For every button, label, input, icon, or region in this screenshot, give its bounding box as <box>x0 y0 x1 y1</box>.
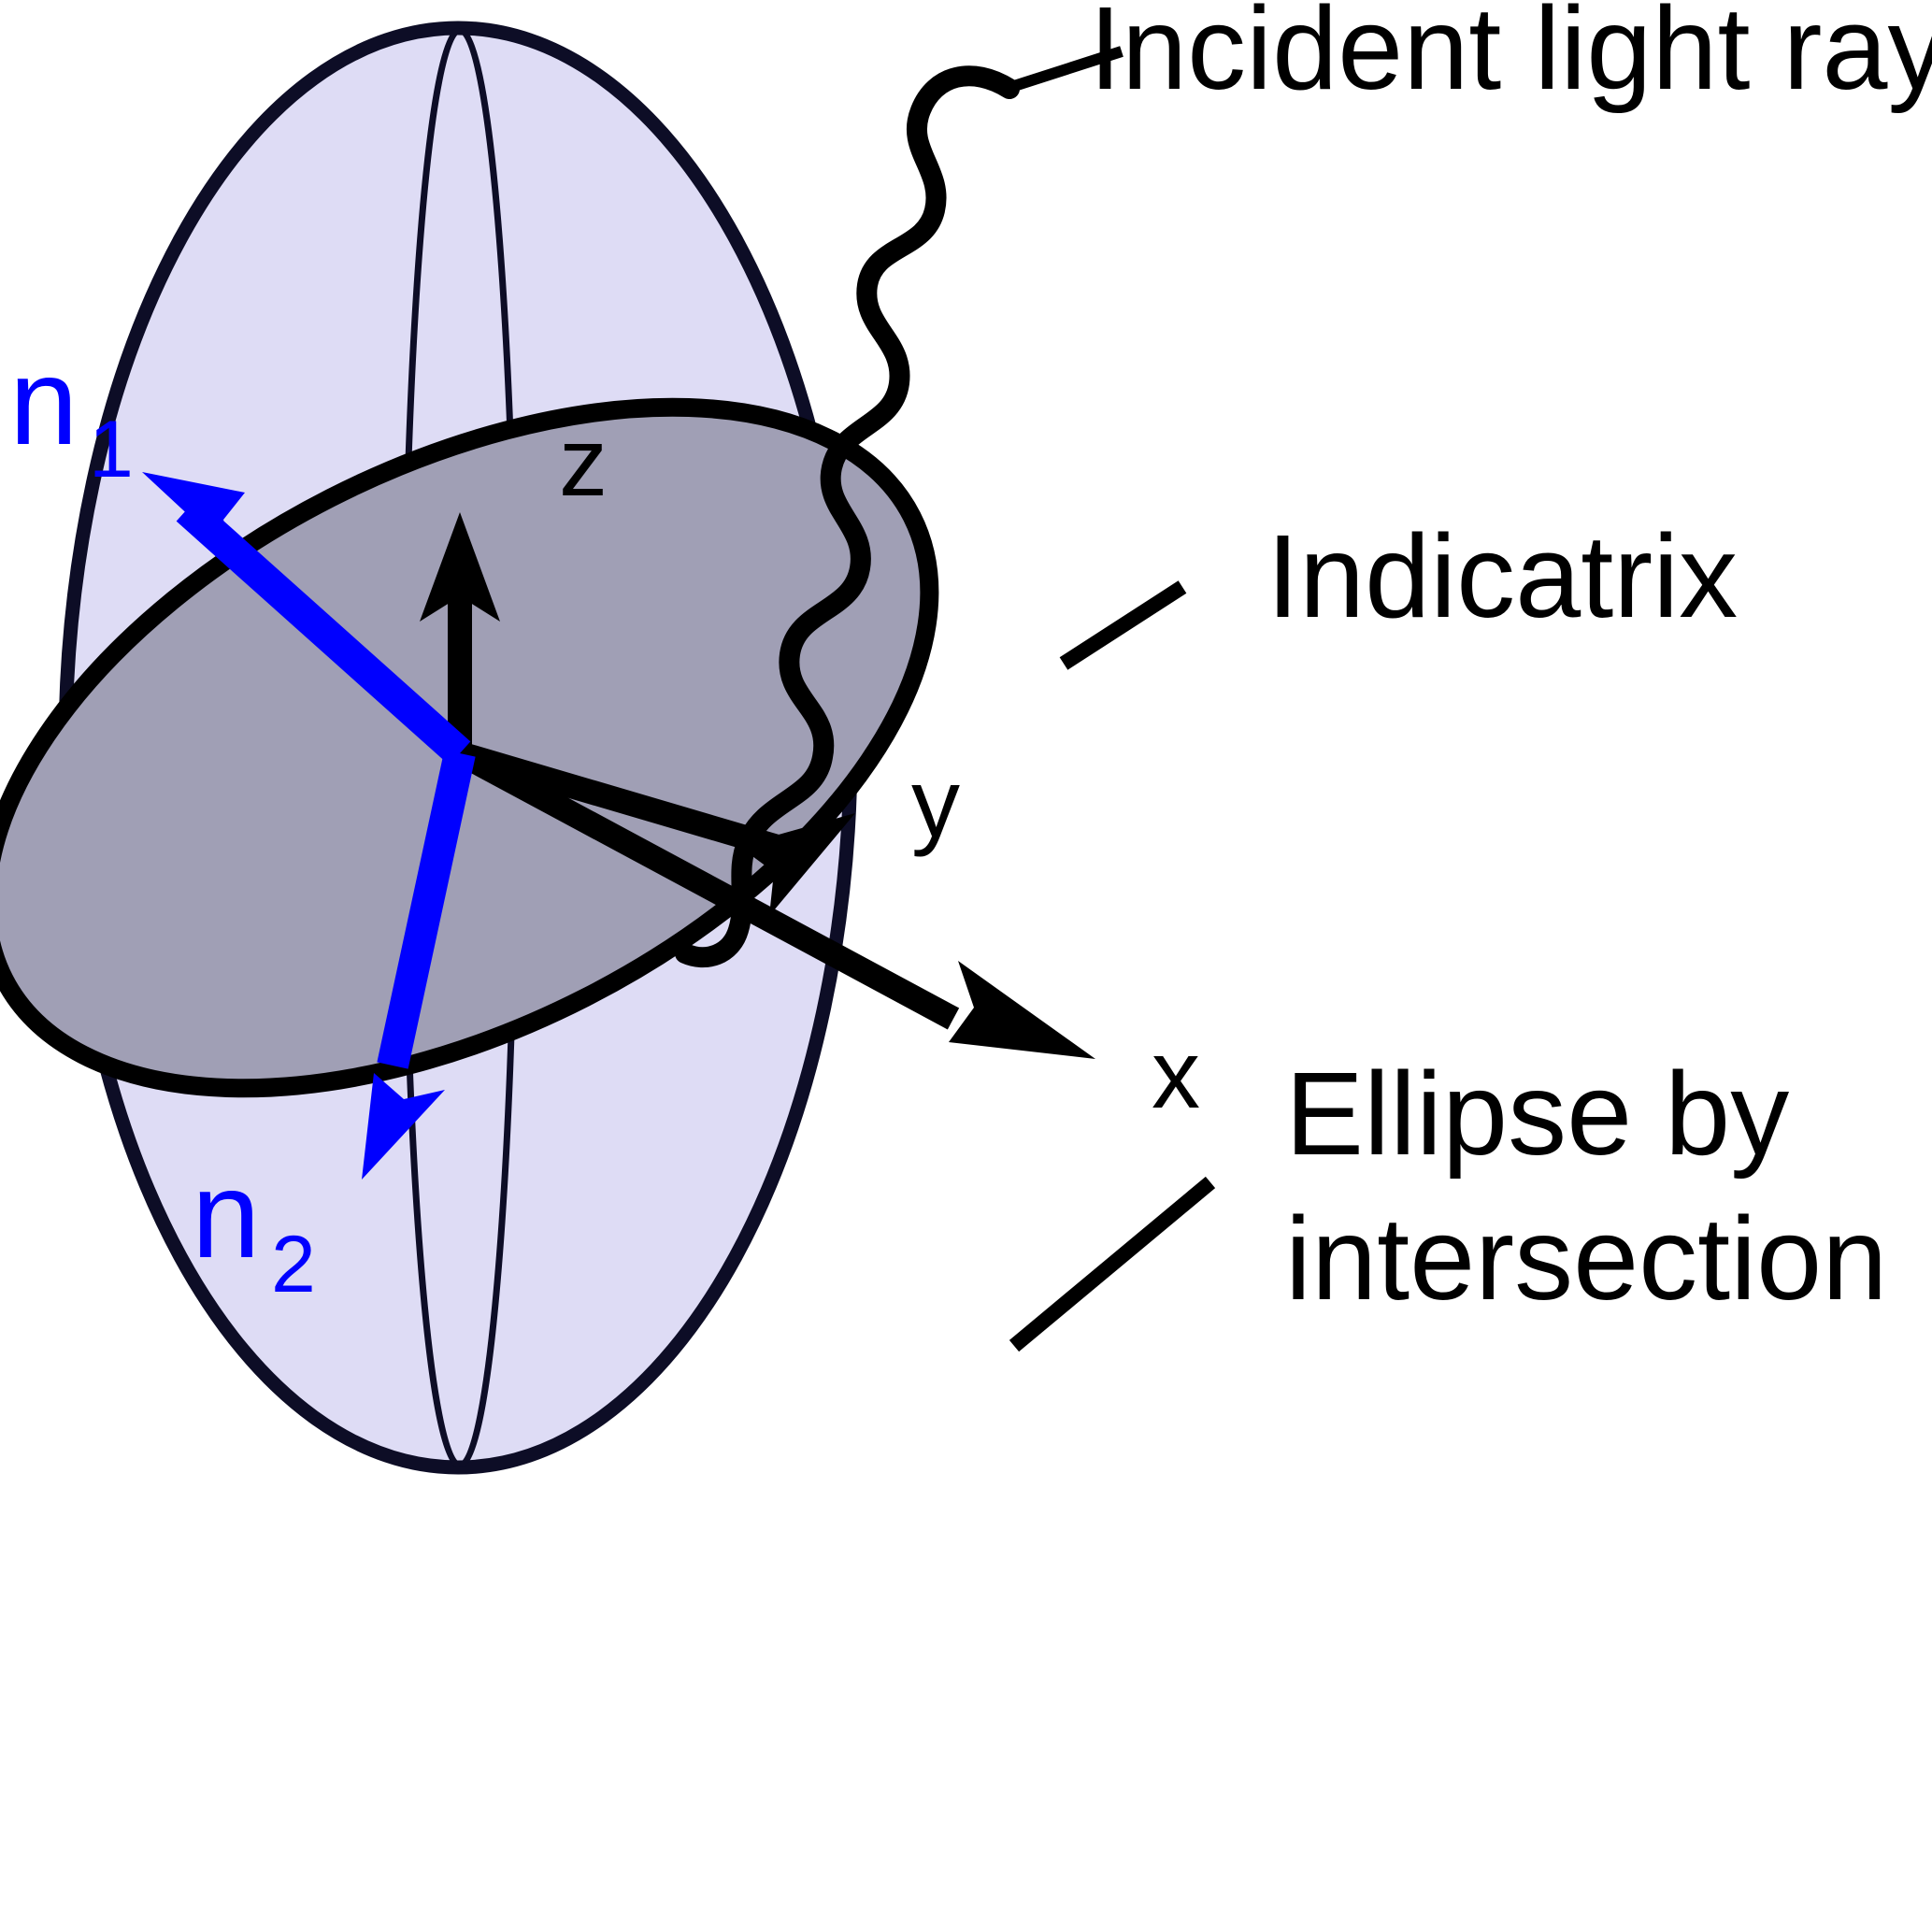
n2-label-subscript: 2 <box>271 1220 316 1309</box>
callout-ellipse-by-intersection-line2: intersection <box>1285 1193 1887 1324</box>
indicatrix-leader-icon <box>1064 587 1182 664</box>
n2-label-base: n <box>192 1146 260 1283</box>
n1-label-subscript: 1 <box>89 405 134 494</box>
callout-ellipse-by-intersection-line1: Ellipse by <box>1285 1048 1789 1180</box>
figure-canvas: z y x n 1 n 2 Incident light ray Indicat… <box>0 0 1932 1931</box>
n1-label: n 1 <box>9 333 134 494</box>
indicatrix-diagram-svg: z y x n 1 n 2 Incident light ray Indicat… <box>0 0 1932 1931</box>
x-axis-arrowhead-icon <box>949 961 1095 1059</box>
axis-label-y: y <box>911 750 960 858</box>
callout-indicatrix: Indicatrix <box>1267 510 1738 642</box>
callout-leaders <box>1014 51 1210 1346</box>
axis-label-x: x <box>1152 1021 1200 1129</box>
axis-label-z: z <box>559 408 608 517</box>
n1-label-base: n <box>9 333 78 470</box>
callout-incident-light-ray: Incident light ray <box>1089 0 1932 114</box>
ellipse-by-intersection-leader-icon <box>1014 1182 1210 1346</box>
